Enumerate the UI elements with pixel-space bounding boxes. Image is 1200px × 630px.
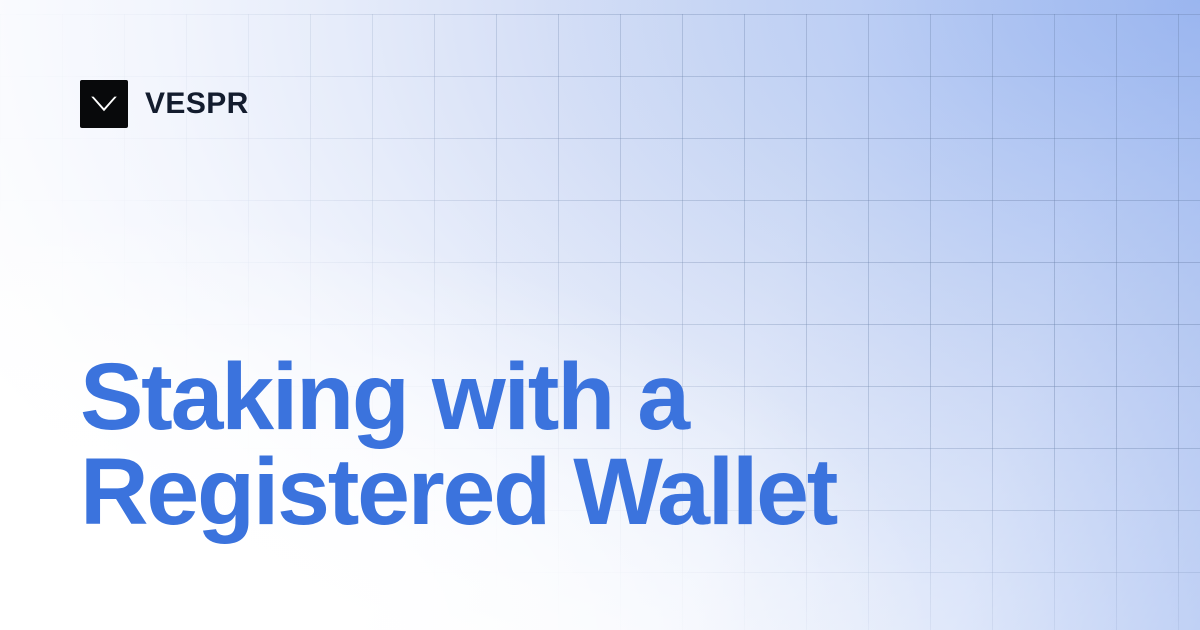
brand-name: VESPR xyxy=(145,89,249,119)
og-card: VESPR Staking with a Registered Wallet xyxy=(0,0,1200,630)
page-title-line-2: Registered Wallet xyxy=(80,445,1080,540)
card-content: VESPR Staking with a Registered Wallet xyxy=(0,0,1200,630)
brand-lockup: VESPR xyxy=(80,80,249,128)
page-title-line-1: Staking with a xyxy=(80,350,1080,445)
page-title: Staking with a Registered Wallet xyxy=(80,350,1080,540)
vespr-chevron-icon xyxy=(80,80,128,128)
